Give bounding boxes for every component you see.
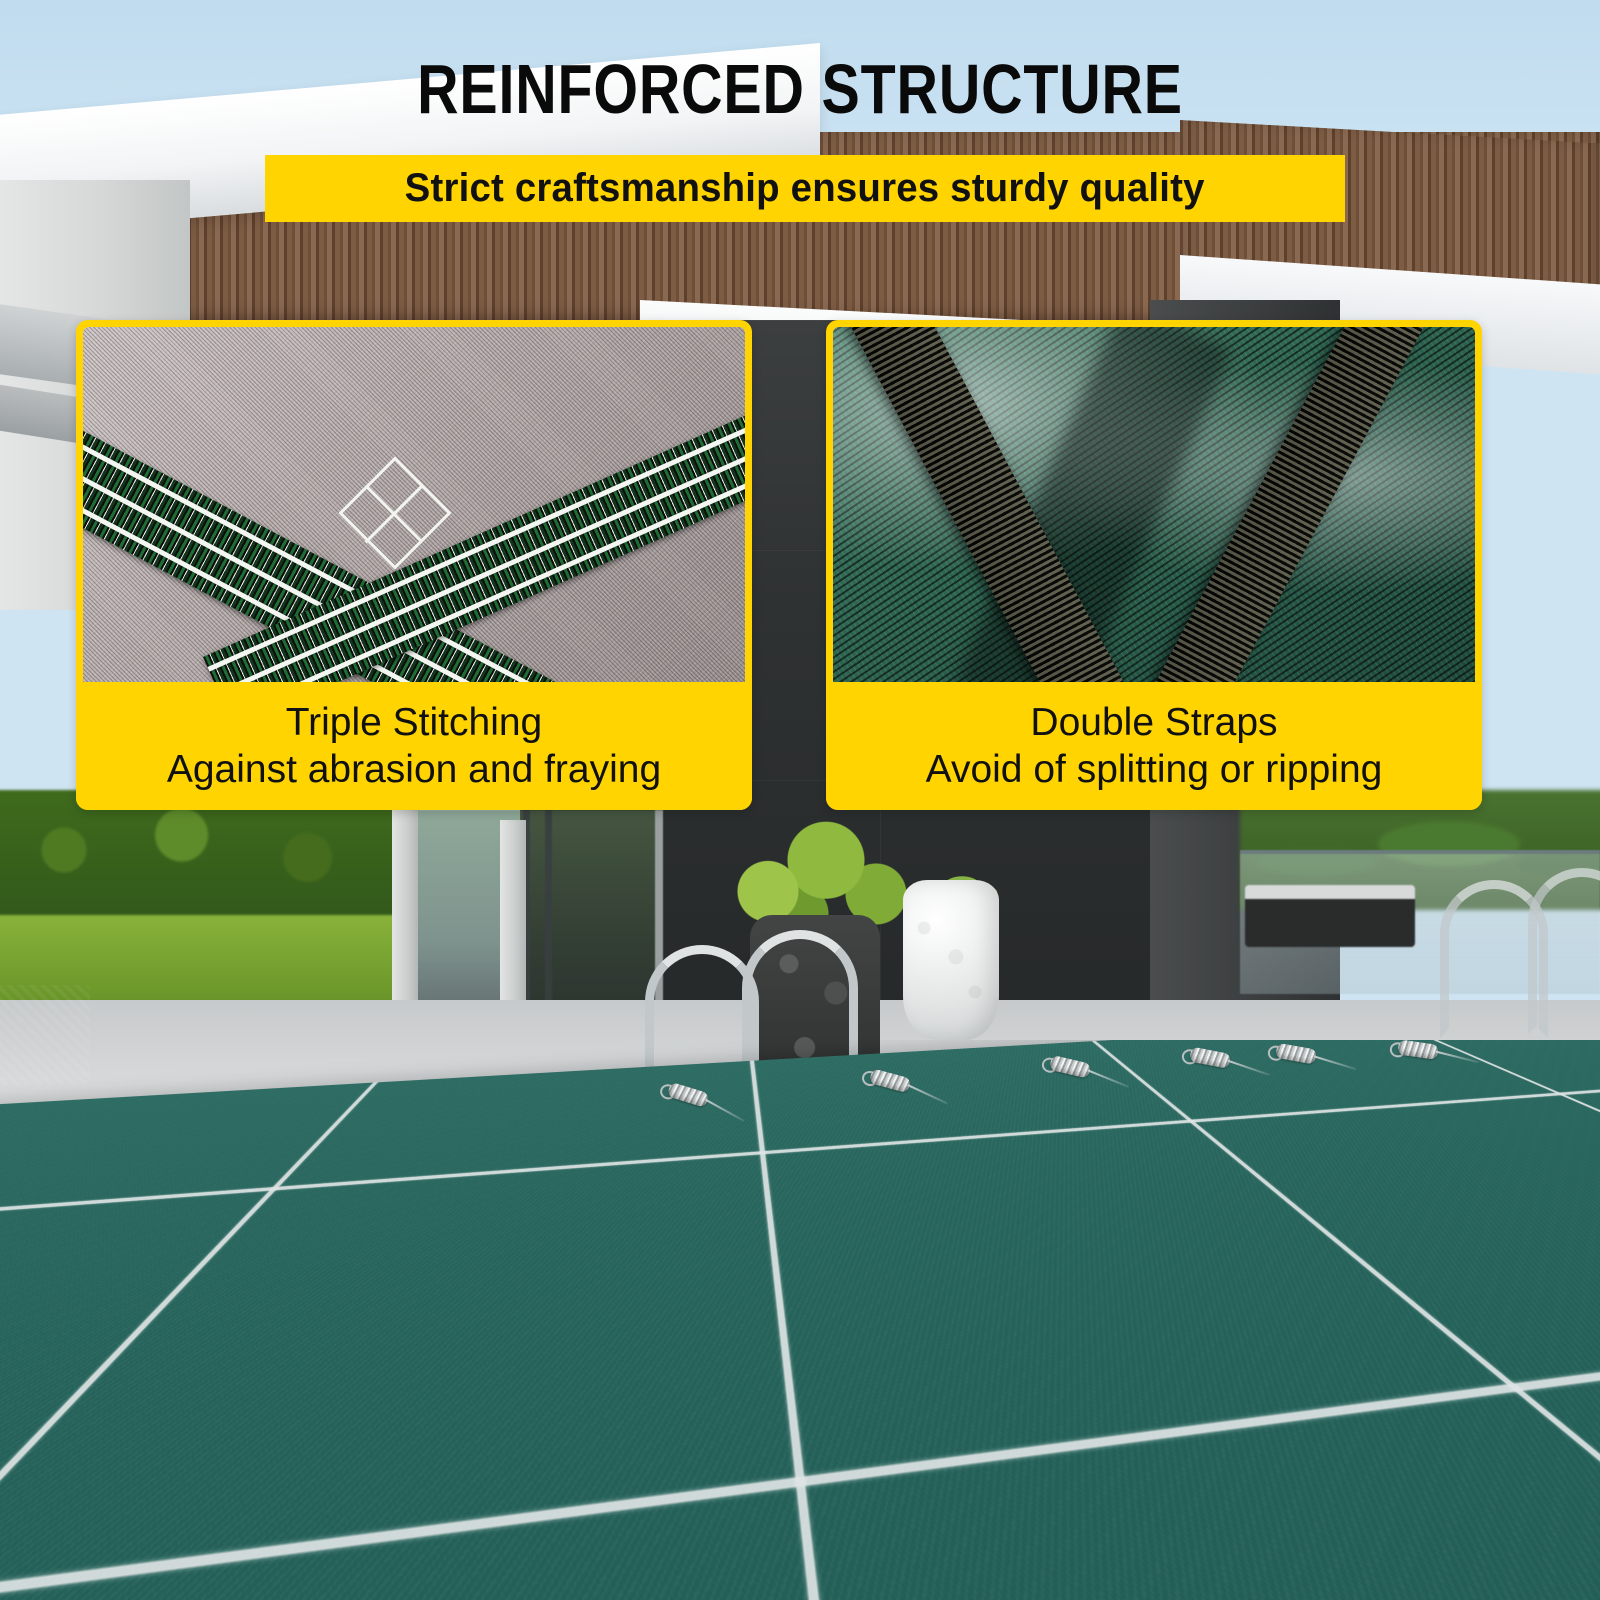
pool-handrail xyxy=(1528,868,1600,1034)
feature-card-triple-stitching: Triple Stitching Against abrasion and fr… xyxy=(76,320,752,810)
feature-heading: Double Straps xyxy=(1030,700,1277,745)
feature-description: Avoid of splitting or ripping xyxy=(926,747,1383,792)
feature-photo-double-straps xyxy=(833,327,1475,682)
subtitle-banner: Strict craftsmanship ensures sturdy qual… xyxy=(265,155,1345,222)
double-straps-closeup-image xyxy=(833,327,1475,682)
feature-caption-double-straps: Double Straps Avoid of splitting or ripp… xyxy=(826,682,1482,810)
product-marketing-image: REINFORCED STRUCTURE Strict craftsmanshi… xyxy=(0,0,1600,1600)
feature-description: Against abrasion and fraying xyxy=(167,747,661,792)
subtitle-text: Strict craftsmanship ensures sturdy qual… xyxy=(405,166,1205,211)
stitching-closeup-image xyxy=(83,327,745,682)
white-vase-planter xyxy=(903,880,999,1040)
page-title: REINFORCED STRUCTURE xyxy=(144,52,1456,126)
feature-photo-triple-stitching xyxy=(83,327,745,682)
pool-safety-cover xyxy=(0,1040,1600,1600)
hot-tub xyxy=(1245,885,1415,947)
feature-heading: Triple Stitching xyxy=(286,700,543,745)
feature-caption-triple-stitching: Triple Stitching Against abrasion and fr… xyxy=(76,682,752,810)
cover-surface xyxy=(0,1040,1600,1125)
feature-card-double-straps: Double Straps Avoid of splitting or ripp… xyxy=(826,320,1482,810)
